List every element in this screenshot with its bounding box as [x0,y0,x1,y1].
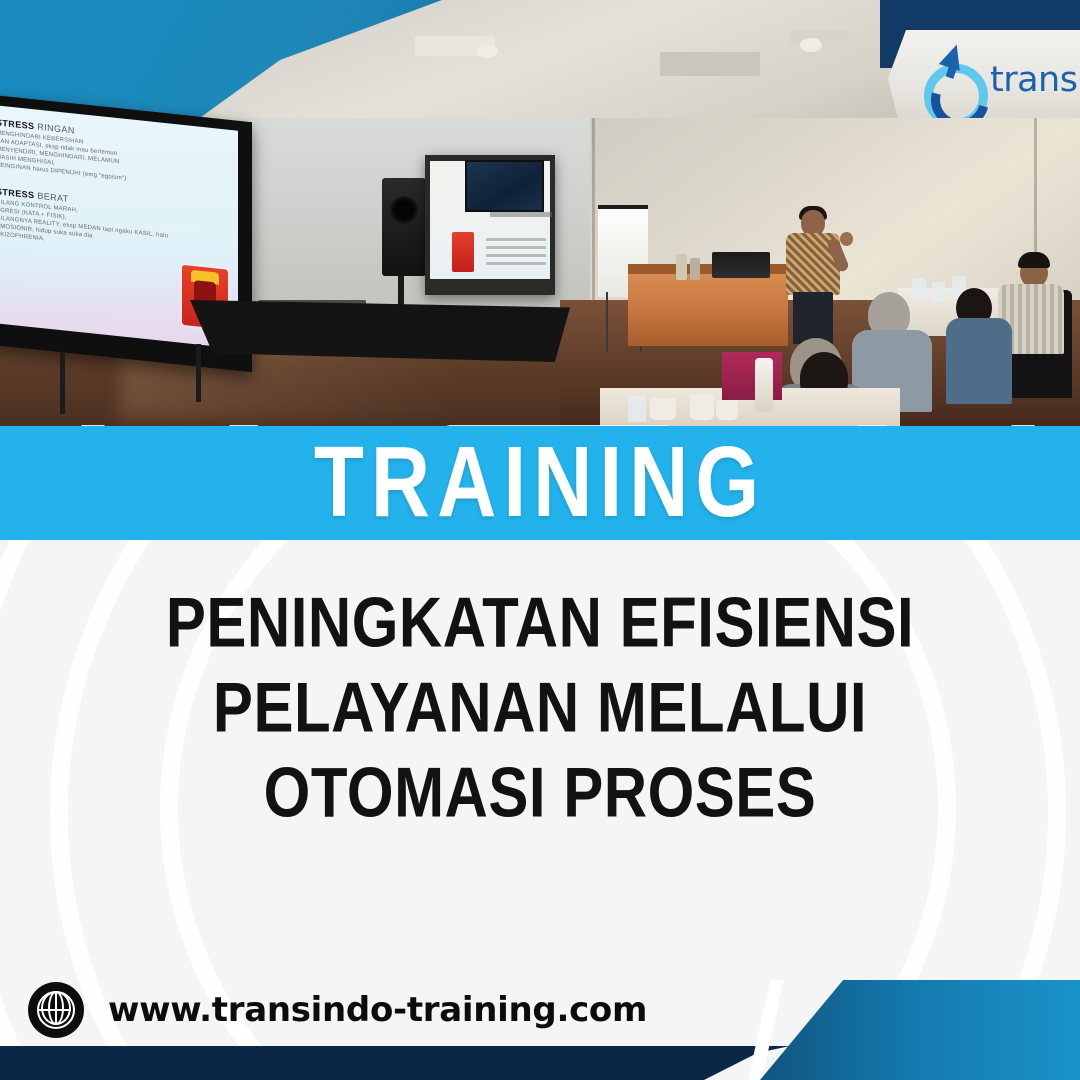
drinking-glass [932,282,945,302]
screen-tripod-leg [196,344,201,402]
globe-icon [28,982,84,1038]
transindo-logo-icon [918,42,980,114]
ceiling-vent [660,52,760,76]
presenter-table [628,272,788,346]
ceiling-light [476,44,498,58]
tumbler-bottle [755,358,773,412]
footer-blue-parallelogram [760,980,1080,1080]
wall-mounted-tv [465,160,544,212]
slide-right-character [452,232,474,272]
poster-title: PENINGKATAN EFISIENSI PELAYANAN MELALUI … [0,580,1080,835]
title-line-3: OTOMASI PROSES [0,742,1080,842]
poster-canvas: transindo STRESS RINGAN MENGHINDARI KEBE… [0,0,1080,1080]
presenter-trousers [793,292,833,344]
coffee-cup [690,394,714,420]
stage-drape [190,300,570,362]
screen-tripod-leg [60,352,65,414]
laptop [712,252,770,278]
water-bottle [690,258,700,280]
slide-right-body-lines [486,238,546,274]
training-banner: TRAINING [0,426,1080,540]
table-cloth-pink [722,352,782,400]
transindo-sign-text: transindo [990,60,1080,100]
presenter-hand [840,232,853,246]
coffee-cup [650,398,676,420]
footer-website-group[interactable]: www.transindo-training.com [28,982,647,1038]
training-room-photo: transindo STRESS RINGAN MENGHINDARI KEBE… [0,0,1080,427]
training-banner-label: TRAINING [314,433,766,533]
drinking-glass [912,278,926,300]
drinking-glass [628,396,646,422]
water-bottle [676,254,687,280]
coffee-cup [716,400,738,420]
flipchart-leg [606,292,608,352]
slide-right-title-text [490,212,552,217]
ceiling-light [800,38,822,52]
pa-speaker [382,178,426,276]
audience-hair [1018,252,1050,268]
website-url[interactable]: www.transindo-training.com [108,990,647,1030]
audience-denim-jacket [946,318,1012,404]
